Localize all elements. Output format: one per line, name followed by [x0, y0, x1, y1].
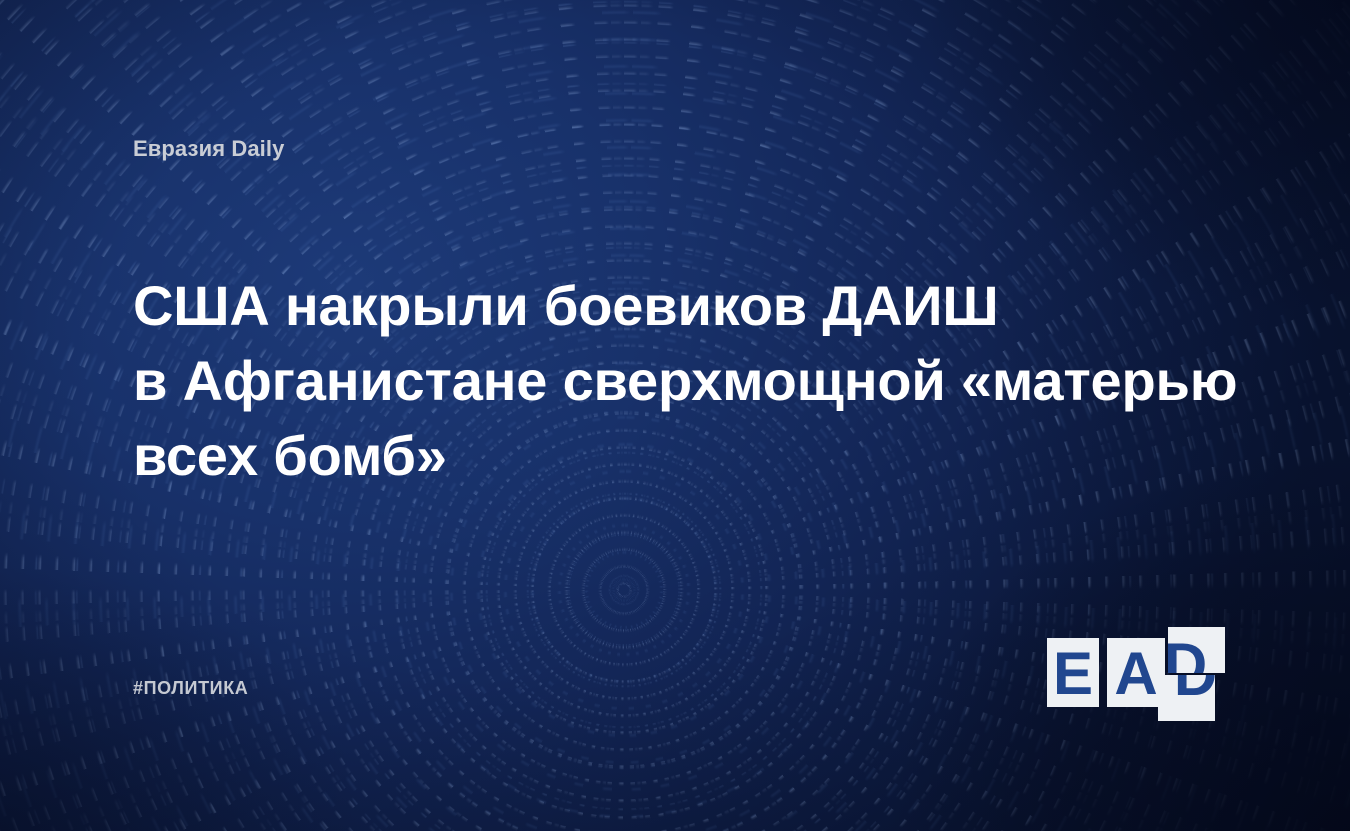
logo-letter-a: A: [1107, 644, 1165, 704]
logo-tile-d-bottom: D: [1158, 675, 1215, 721]
page-title: США накрыли боевиков ДАИШ в Афганистане …: [133, 268, 1223, 493]
logo-letter-d-top: D: [1168, 635, 1214, 673]
logo-tile-a: A: [1107, 638, 1165, 707]
headline-line-3: всех бомб»: [133, 418, 1223, 493]
headline-line-2: в Афганистане сверхмощной «матерью: [133, 343, 1223, 418]
brand-name: Евразия Daily: [133, 136, 284, 162]
ead-logo[interactable]: E A D D: [1047, 627, 1225, 707]
logo-tile-e: E: [1047, 638, 1099, 707]
logo-letter-d-bottom: D: [1167, 675, 1215, 705]
category-hashtag[interactable]: #ПОЛИТИКА: [133, 678, 248, 699]
headline-line-1: США накрыли боевиков ДАИШ: [133, 268, 1223, 343]
card-content: Евразия Daily США накрыли боевиков ДАИШ …: [0, 0, 1350, 831]
logo-letter-e: E: [1047, 644, 1099, 704]
logo-tile-d-top: D: [1168, 627, 1225, 673]
news-share-card: Евразия Daily США накрыли боевиков ДАИШ …: [0, 0, 1350, 831]
